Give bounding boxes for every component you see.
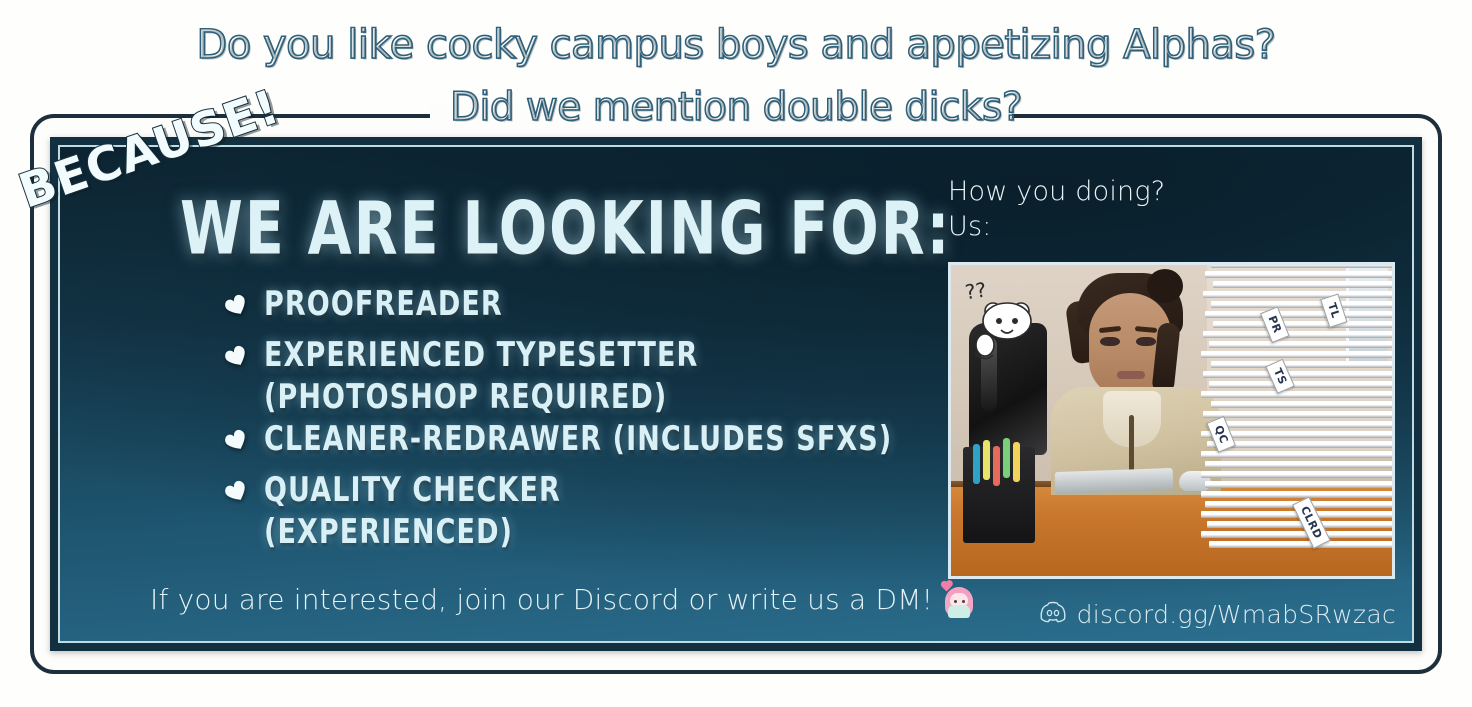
cta-label: If you are interested, join our Discord … (150, 583, 933, 616)
heart-bullet-icon (222, 429, 250, 452)
discord-url-text: discord.gg/WmabSRwzac (1077, 600, 1396, 629)
chibi-anime-girl-emoji (941, 581, 977, 619)
list-item: PROOFREADER (222, 285, 940, 318)
list-item-label: CLEANER-REDRAWER (INCLUDES SFXS) (264, 420, 892, 462)
heart-bullet-icon (222, 480, 250, 503)
left-column: WE ARE LOOKING FOR: PROOFREADER (180, 187, 940, 619)
list-item: CLEANER-REDRAWER (INCLUDES SFXS) (222, 420, 940, 453)
list-item: EXPERIENCED TYPESETTER (PHOTOSHOP REQUIR… (222, 336, 940, 402)
list-item: QUALITY CHECKER (EXPERIENCED) (222, 471, 940, 537)
list-item-label: EXPERIENCED TYPESETTER (PHOTOSHOP REQUIR… (264, 336, 698, 419)
heart-bullet-icon (222, 294, 250, 317)
call-to-action: If you are interested, join our Discord … (150, 581, 940, 619)
discord-logo-icon (1039, 601, 1067, 628)
list-item-label: PROOFREADER (264, 285, 503, 327)
panel-title: WE ARE LOOKING FOR: (180, 187, 940, 271)
header-line-1: Do you like cocky campus boys and appeti… (0, 14, 1472, 77)
meme-photo: ? ? (948, 262, 1395, 579)
bear-doodle-icon (973, 297, 1047, 363)
discord-link[interactable]: discord.gg/WmabSRwzac (1039, 600, 1396, 629)
photo-inner: ? ? (951, 265, 1392, 576)
recruitment-poster: Do you like cocky campus boys and appeti… (0, 0, 1472, 707)
job-role-list: PROOFREADER EXPERIENCED TYPE (222, 285, 940, 537)
main-panel: WE ARE LOOKING FOR: PROOFREADER (58, 145, 1414, 643)
paper-stack: TL PR TS QC CLRD (1201, 265, 1392, 569)
list-item-label: QUALITY CHECKER (EXPERIENCED) (264, 471, 561, 554)
right-column: How you doing? Us: (948, 175, 1414, 579)
panel-outer-border: WE ARE LOOKING FOR: PROOFREADER (50, 137, 1422, 651)
us-label: Us: (948, 210, 1414, 245)
how-you-doing-text: How you doing? (948, 175, 1414, 210)
heart-bullet-icon (222, 345, 250, 368)
